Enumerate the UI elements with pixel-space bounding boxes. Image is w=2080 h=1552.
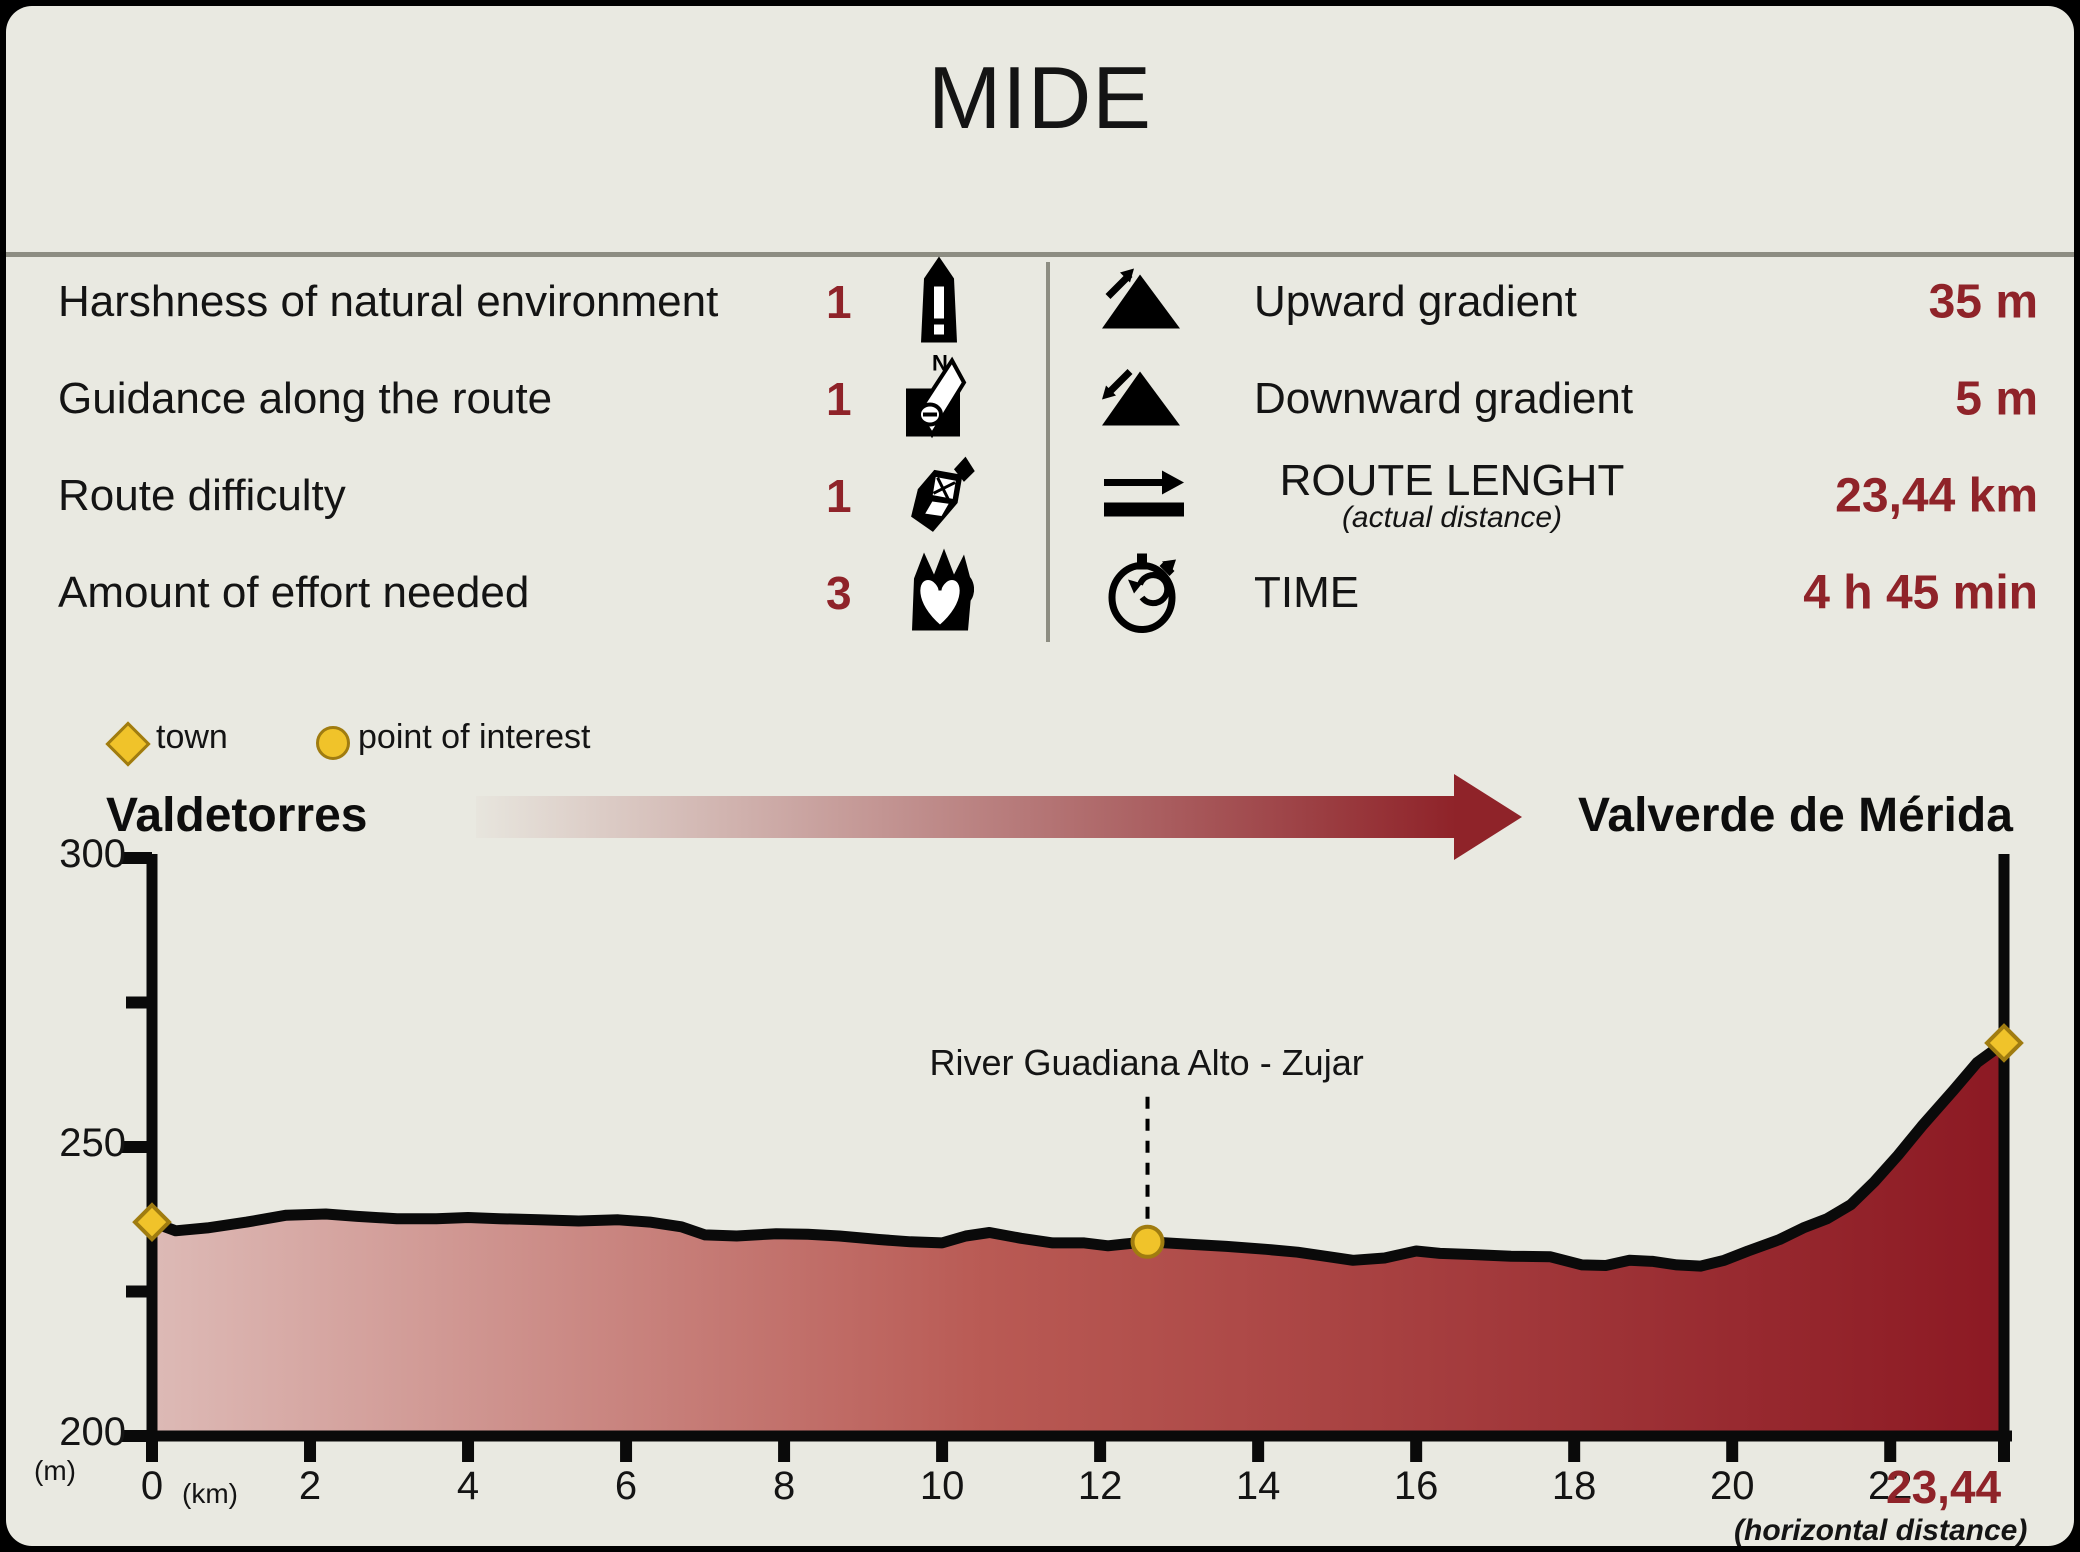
assessment-value: 1 bbox=[826, 275, 852, 329]
x-tick-label: 2 bbox=[260, 1464, 360, 1509]
table-row[interactable]: ROUTE LENGHT (actual distance) 23,44 km bbox=[1052, 448, 2074, 544]
x-axis-note: (horizontal distance) bbox=[1734, 1514, 2027, 1546]
warning-triangle-icon bbox=[894, 257, 984, 348]
legend-label-poi: point of interest bbox=[358, 718, 590, 757]
metric-value: 23,44 km bbox=[1835, 469, 2038, 524]
x-tick-label: 16 bbox=[1366, 1464, 1466, 1509]
stopwatch-icon bbox=[1100, 548, 1190, 639]
y-tick-label: 250 bbox=[6, 1121, 126, 1166]
table-row[interactable]: Harshness of natural environment 1 bbox=[6, 254, 1044, 350]
mide-table: Harshness of natural environment 1 Guida… bbox=[6, 252, 2074, 646]
assessment-label: Guidance along the route bbox=[58, 374, 552, 424]
route-end-name: Valverde de Mérida bbox=[1578, 788, 2013, 843]
arrow-distance-icon bbox=[1096, 461, 1192, 532]
page-title: MIDE bbox=[6, 54, 2074, 142]
table-row[interactable]: Amount of effort needed 3 bbox=[6, 545, 1044, 641]
assessment-value: 1 bbox=[826, 469, 852, 523]
table-row[interactable]: TIME 4 h 45 min bbox=[1052, 545, 2074, 641]
y-tick-label: 300 bbox=[6, 832, 126, 877]
heart-icon bbox=[894, 545, 988, 642]
x-end-tick-label: 23,44 bbox=[1886, 1460, 2001, 1514]
profile-svg bbox=[6, 846, 2074, 1546]
assessment-value: 1 bbox=[826, 372, 852, 426]
metric-value: 35 m bbox=[1929, 275, 2038, 330]
table-row[interactable]: Route difficulty 1 bbox=[6, 448, 1044, 544]
legend-label-town: town bbox=[156, 718, 228, 757]
town-marker-icon bbox=[105, 721, 150, 766]
metric-value: 5 m bbox=[1955, 372, 2038, 427]
x-tick-label: 6 bbox=[576, 1464, 676, 1509]
assessment-label: Harshness of natural environment bbox=[58, 277, 718, 327]
x-tick-label: 20 bbox=[1682, 1464, 1782, 1509]
x-tick-label: 18 bbox=[1524, 1464, 1624, 1509]
assessment-label: Route difficulty bbox=[58, 471, 346, 521]
route-start-name: Valdetorres bbox=[106, 788, 367, 843]
point-of-interest-marker-icon bbox=[316, 726, 350, 760]
table-divider bbox=[1046, 262, 1050, 642]
poi-annotation-label: River Guadiana Alto - Zujar bbox=[930, 1042, 1364, 1084]
y-axis-unit: (m) bbox=[34, 1455, 76, 1487]
right-arrow-icon bbox=[476, 796, 1456, 838]
x-tick-label: 4 bbox=[418, 1464, 518, 1509]
metric-label: TIME bbox=[1254, 568, 1359, 618]
x-tick-label: 8 bbox=[734, 1464, 834, 1509]
elevation-profile-chart: 300 250 200 (m) 0246810121416182022 (km)… bbox=[6, 846, 2074, 1546]
table-row[interactable]: Guidance along the route 1 N bbox=[6, 351, 1044, 447]
mountain-down-icon bbox=[1094, 364, 1190, 435]
mide-card: MIDE Harshness of natural environment 1 … bbox=[6, 6, 2074, 1546]
assessment-label: Amount of effort needed bbox=[58, 568, 529, 618]
compass-icon: N bbox=[892, 353, 986, 446]
table-row[interactable]: Upward gradient 35 m bbox=[1052, 254, 2074, 350]
metric-label: ROUTE LENGHT bbox=[1242, 459, 1662, 503]
mountain-up-icon bbox=[1094, 267, 1190, 338]
metric-value: 4 h 45 min bbox=[1803, 566, 2038, 621]
chart-legend: town point of interest bbox=[6, 706, 2074, 776]
y-tick-label: 200 bbox=[6, 1410, 126, 1455]
x-tick-label: 10 bbox=[892, 1464, 992, 1509]
x-axis-unit: (km) bbox=[182, 1478, 238, 1510]
metric-sublabel: (actual distance) bbox=[1242, 503, 1662, 533]
x-tick-label: 14 bbox=[1208, 1464, 1308, 1509]
metric-label-block: ROUTE LENGHT (actual distance) bbox=[1242, 459, 1662, 533]
metric-label: Upward gradient bbox=[1254, 277, 1577, 327]
assessment-value: 3 bbox=[826, 566, 852, 620]
boot-icon bbox=[896, 449, 988, 544]
x-tick-label: 12 bbox=[1050, 1464, 1150, 1509]
table-row[interactable]: Downward gradient 5 m bbox=[1052, 351, 2074, 447]
metric-label: Downward gradient bbox=[1254, 374, 1633, 424]
